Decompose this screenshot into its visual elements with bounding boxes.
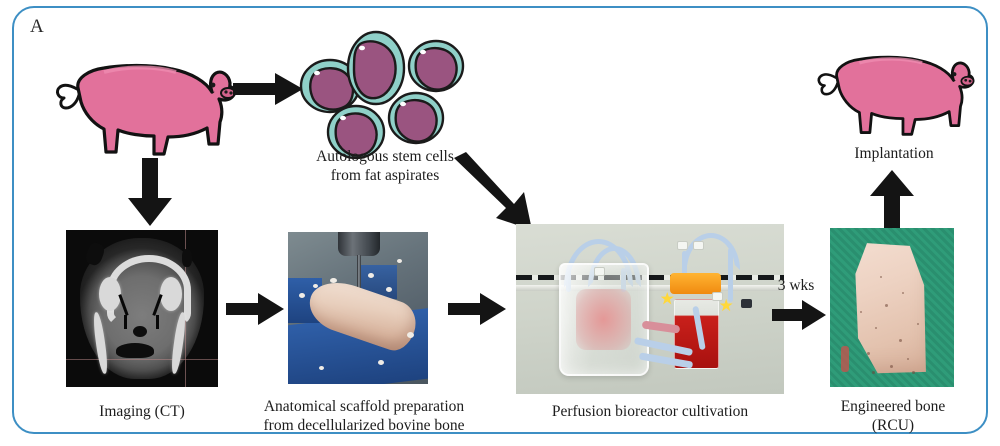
imaging-caption: Imaging (CT): [62, 403, 222, 422]
figure-panel-a: A: [0, 0, 1000, 446]
scaffold-caption: Anatomical scaffold preparation from dec…: [248, 398, 480, 436]
stem-cell-cluster-icon: [292, 28, 472, 160]
stem-cells-illustration: [292, 28, 472, 160]
arrow-ct-to-scaffold: [226, 292, 286, 326]
arrow-scaffold-to-bioreactor: [448, 292, 508, 326]
scaffold-milling-photo: [288, 232, 428, 384]
bioreactor-caption: Perfusion bioreactor cultivation: [516, 403, 784, 422]
duration-label: 3 wks: [766, 277, 826, 296]
engineered-bone-caption: Engineered bone (RCU): [822, 398, 964, 436]
arrow-cells-to-bioreactor: [452, 152, 542, 234]
source-pig-illustration: [46, 32, 246, 172]
panel-letter: A: [30, 16, 44, 38]
arrow-bone-to-implantation: [864, 170, 920, 230]
pig-icon: [46, 32, 246, 172]
ct-scan-photo: [66, 230, 218, 387]
arrow-bioreactor-to-bone: [772, 299, 828, 331]
arrow-pig-to-ct: [122, 158, 178, 228]
pig-icon: [806, 28, 986, 150]
implant-pig-illustration: [806, 28, 986, 150]
bioreactor-photo: [516, 224, 784, 394]
engineered-bone-photo: [830, 228, 954, 387]
